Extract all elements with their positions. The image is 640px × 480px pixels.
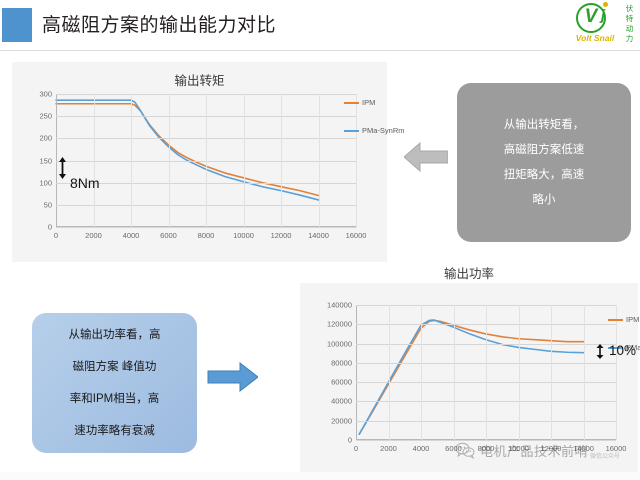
torque-callout-line-4: 略小: [457, 188, 631, 213]
x-axis-tick-label: 14000: [308, 231, 329, 240]
y-axis-tick-label: 150: [39, 156, 52, 165]
torque-chart-card: 输出转矩 05010015020025030002000400060008000…: [12, 62, 387, 262]
gridline-h: [56, 227, 356, 228]
gridline-v: [319, 94, 320, 227]
torque-gap-label: 8Nm: [70, 175, 100, 191]
x-axis-tick-label: 0: [54, 231, 58, 240]
torque-callout-line-1: 从输出转矩看，: [457, 113, 631, 138]
legend-label: PMa-SynRm: [362, 126, 405, 135]
gridline-v: [94, 94, 95, 227]
y-axis-tick-label: 250: [39, 112, 52, 121]
power-plot-area: 0200004000060000800001000001200001400000…: [356, 305, 616, 440]
gridline-v: [421, 305, 422, 440]
legend-swatch: [344, 102, 359, 104]
bottom-strip: [0, 472, 640, 480]
torque-callout-line-3: 扭矩略大，高速: [457, 163, 631, 188]
header-divider: [0, 50, 640, 51]
power-callout-box: 从输出功率看，高 磁阻方案 峰值功 率和IPM相当，高 速功率略有衰减: [32, 313, 197, 453]
legend-swatch: [344, 130, 359, 132]
y-axis-tick-label: 120000: [327, 320, 352, 329]
logo-cn-char-4: 力: [623, 34, 636, 44]
x-axis-tick-label: 8000: [198, 231, 215, 240]
gridline-v: [584, 305, 585, 440]
watermark-text: 电机产品技术前哨: [480, 441, 588, 460]
logo-wordmark: Volt Snail: [574, 33, 616, 43]
legend-entry[interactable]: IPM: [344, 98, 375, 107]
gridline-v: [356, 94, 357, 227]
power-gap-arrow-icon: [596, 343, 608, 358]
x-axis-tick-label: 2000: [380, 444, 397, 453]
y-axis-tick-label: 50: [44, 200, 52, 209]
torque-gap-arrow-icon: [58, 157, 67, 179]
logo-cn-char-1: 伏: [623, 4, 636, 14]
gridline-v: [244, 94, 245, 227]
gridline-v: [454, 305, 455, 440]
y-axis-tick-label: 140000: [327, 301, 352, 310]
x-axis-tick-label: 12000: [271, 231, 292, 240]
series-line-ipm: [359, 320, 583, 434]
logo-cn-char-2: 特: [623, 14, 636, 24]
gridline-v: [206, 94, 207, 227]
y-axis-tick-label: 100: [39, 178, 52, 187]
power-chart-title: 输出功率: [300, 263, 638, 282]
gridline-v: [551, 305, 552, 440]
logo-dot-icon: [603, 2, 608, 7]
y-axis-tick-label: 80000: [331, 358, 352, 367]
watermark-subtext: 微信公众号: [590, 451, 620, 460]
torque-callout-box: 从输出转矩看， 高磁阻方案低速 扭矩略大，高速 略小: [457, 83, 631, 242]
x-axis-tick-label: 16000: [346, 231, 367, 240]
y-axis-tick-label: 200: [39, 134, 52, 143]
y-axis-tick-label: 0: [48, 223, 52, 232]
wechat-icon: [455, 442, 475, 459]
logo-cn-char-3: 动: [623, 24, 636, 34]
logo-chinese-name: 伏 特 动 力: [623, 4, 636, 44]
title-accent-block: [2, 8, 32, 42]
gridline-v: [281, 94, 282, 227]
power-callout-line-3: 率和IPM相当，高: [32, 383, 197, 415]
gridline-v: [616, 305, 617, 440]
torque-plot-area: 0501001502002503000200040006000800010000…: [56, 94, 356, 227]
gridline-v: [131, 94, 132, 227]
legend-label: IPM: [626, 315, 639, 324]
power-callout-line-4: 速功率略有衰减: [32, 415, 197, 447]
x-axis-tick-label: 2000: [85, 231, 102, 240]
gridline-v: [519, 305, 520, 440]
torque-callout-line-2: 高磁阻方案低速: [457, 138, 631, 163]
legend-label: IPM: [362, 98, 375, 107]
brand-logo: V j Volt Snail 伏 特 动 力: [574, 2, 636, 48]
x-axis-tick-label: 4000: [413, 444, 430, 453]
arrow-right-icon: [206, 360, 258, 394]
slide-header: 高磁阻方案的输出能力对比: [0, 0, 640, 52]
x-axis-tick-label: 10000: [233, 231, 254, 240]
x-axis-tick-label: 4000: [123, 231, 140, 240]
watermark: 电机产品技术前哨 微信公众号: [455, 437, 633, 463]
logo-letter-j: j: [601, 7, 605, 24]
torque-chart-title: 输出转矩: [12, 70, 387, 89]
power-callout-line-2: 磁阻方案 峰值功: [32, 351, 197, 383]
arrow-left-icon: [404, 140, 448, 174]
x-axis-tick-label: 6000: [160, 231, 177, 240]
y-axis-tick-label: 300: [39, 90, 52, 99]
legend-swatch: [608, 319, 623, 321]
y-axis-tick-label: 100000: [327, 339, 352, 348]
x-axis-tick-label: 0: [354, 444, 358, 453]
y-axis-tick-label: 0: [348, 436, 352, 445]
legend-entry[interactable]: IPM: [608, 315, 639, 324]
y-axis-tick-label: 60000: [331, 378, 352, 387]
page-title: 高磁阻方案的输出能力对比: [42, 10, 276, 37]
gridline-v: [389, 305, 390, 440]
power-gap-label: 10%: [596, 343, 636, 359]
power-callout-line-1: 从输出功率看，高: [32, 319, 197, 351]
legend-entry[interactable]: PMa-SynRm: [344, 126, 405, 135]
power-gap-text: 10%: [609, 343, 636, 358]
gridline-v: [486, 305, 487, 440]
slide-canvas: 高磁阻方案的输出能力对比 V j Volt Snail 伏 特 动 力 输出转矩…: [0, 0, 640, 480]
gridline-v: [169, 94, 170, 227]
y-axis-tick-label: 40000: [331, 397, 352, 406]
y-axis-tick-label: 20000: [331, 416, 352, 425]
